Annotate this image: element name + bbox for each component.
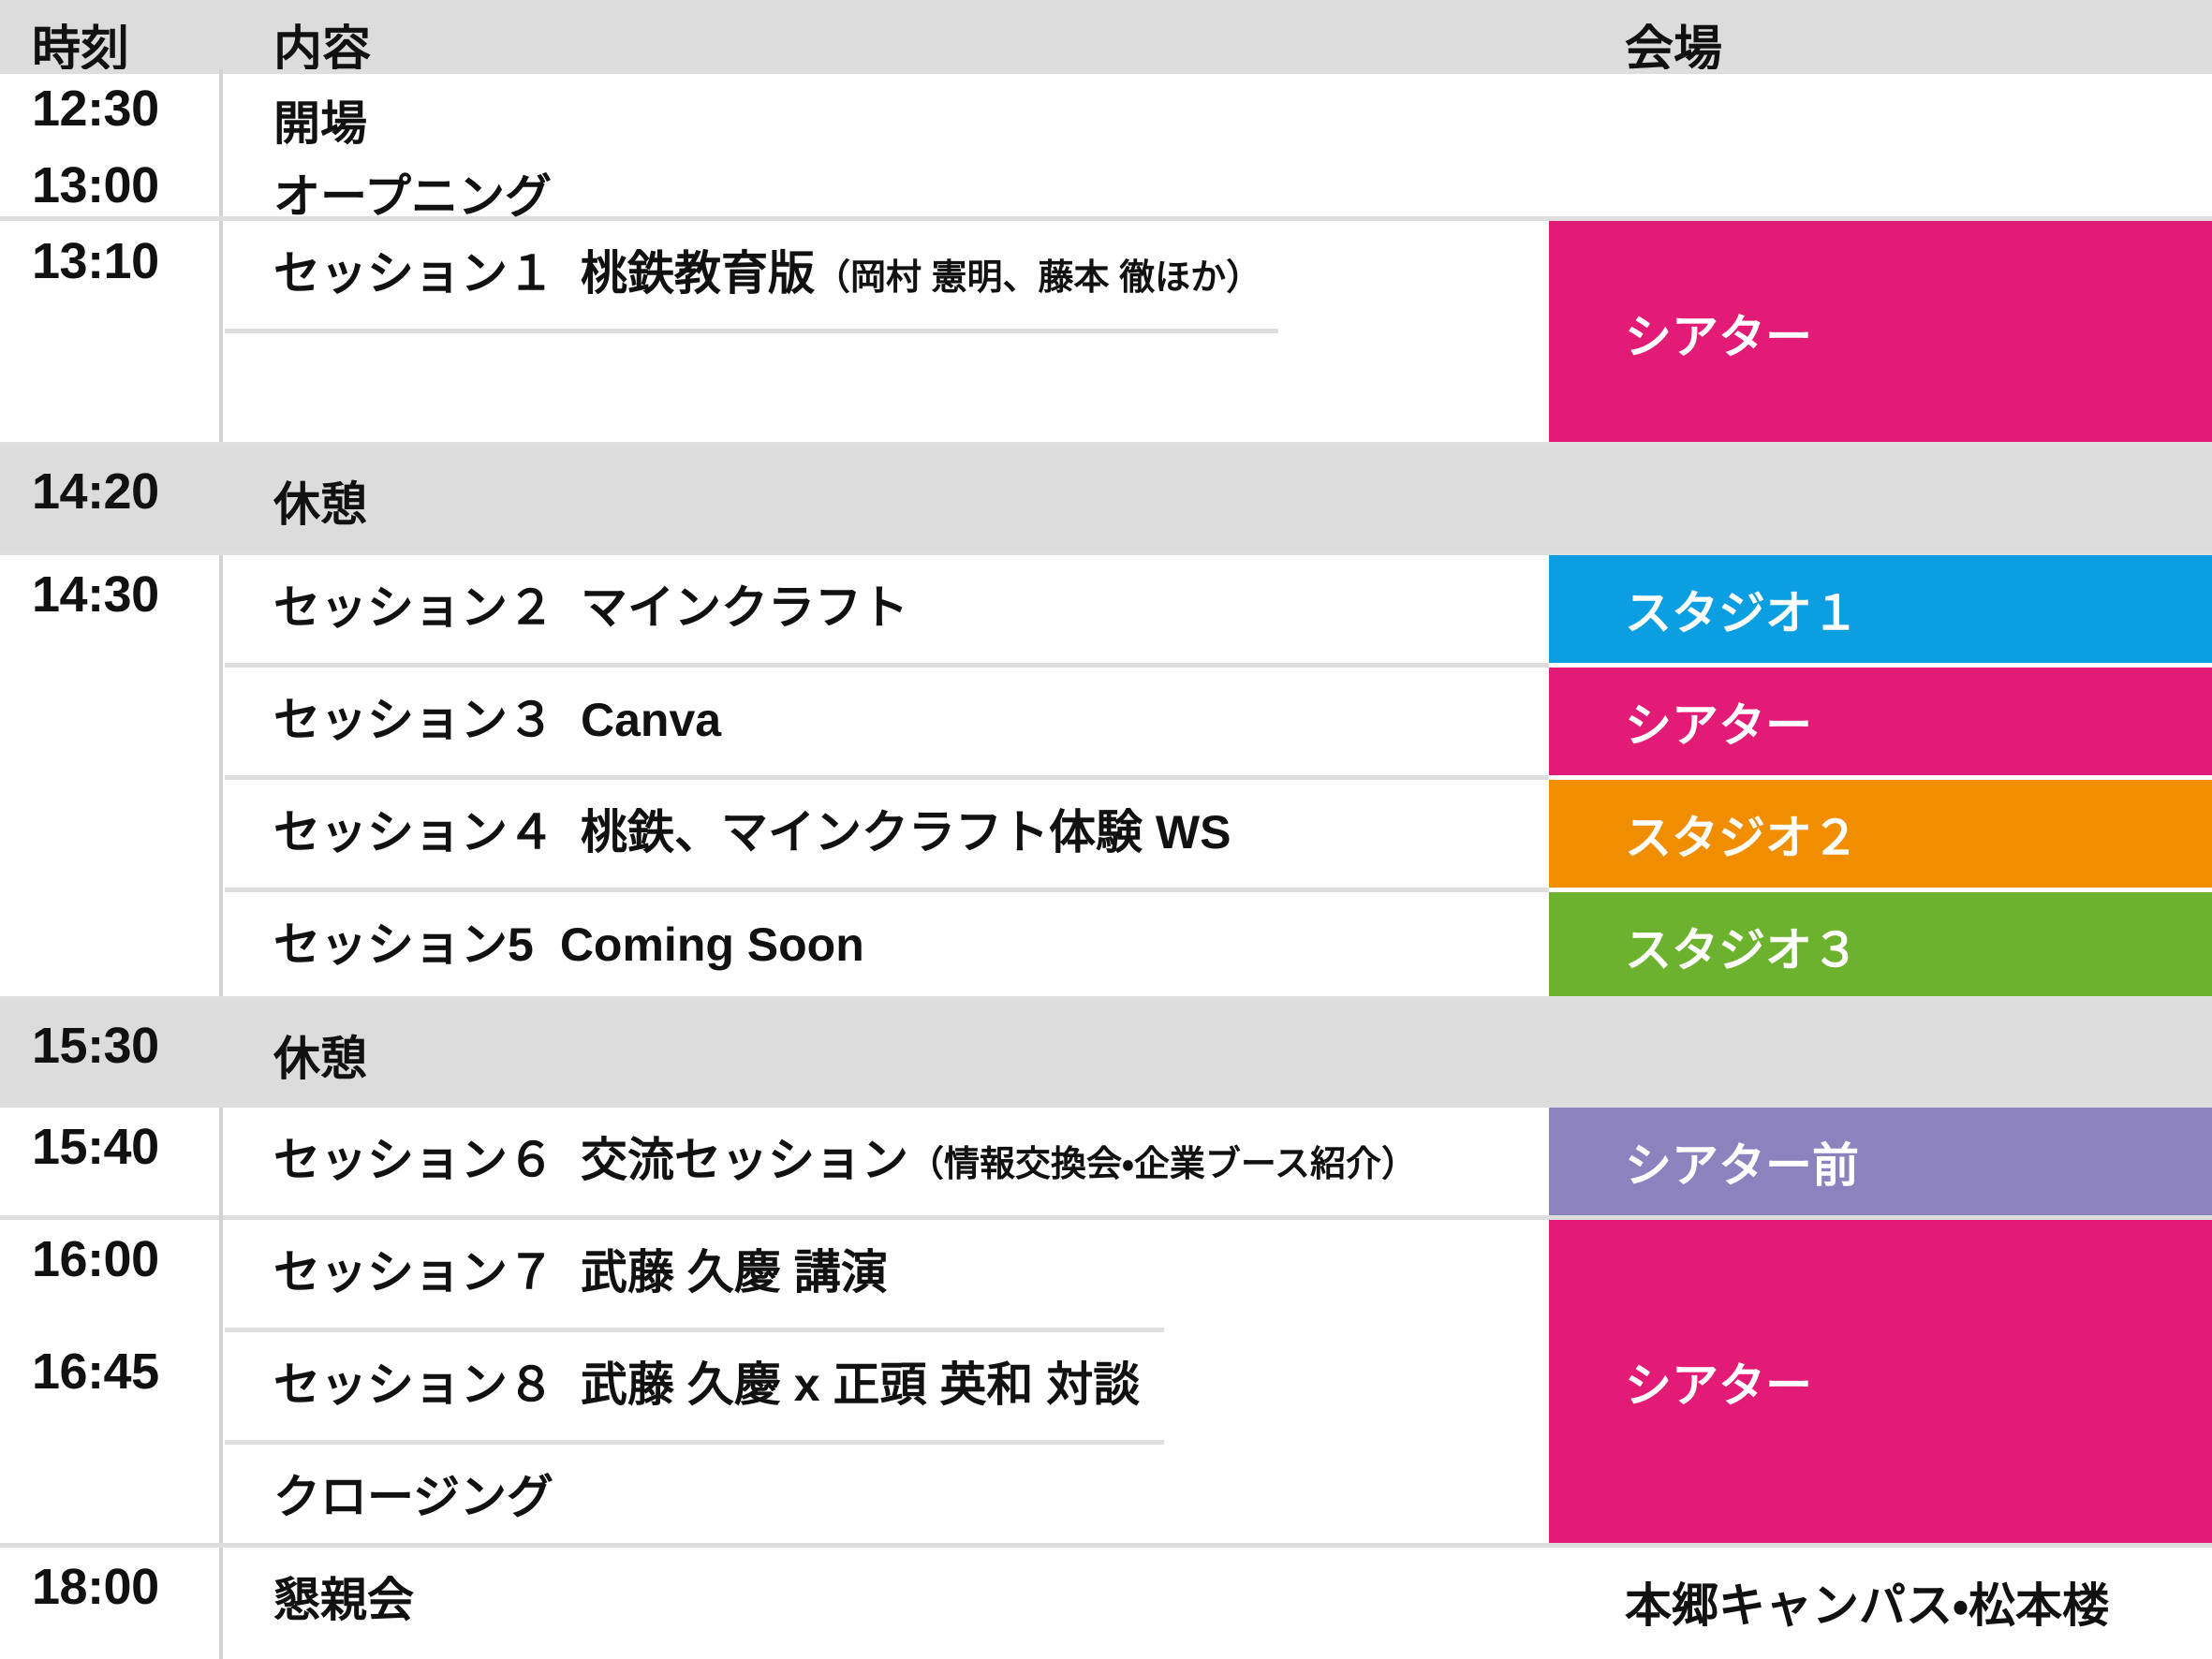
row-divider-short: [225, 663, 1549, 668]
row-time: 12:30: [32, 80, 210, 138]
row-venue: スタジオ２: [1549, 780, 2212, 888]
row-content: セッション７武藤 久慶 講演: [273, 1235, 888, 1302]
row-content: 休憩: [273, 467, 367, 535]
session-title: Canva: [581, 694, 721, 746]
row-divider-short: [225, 775, 1549, 780]
session-title: 武藤 久慶 x 正頭 英和 対談: [581, 1358, 1140, 1411]
row-venue: 本郷キャンパス・松本楼: [1549, 1548, 2212, 1655]
row-divider-short: [225, 1328, 1164, 1332]
row-content: セッション5Coming Soon: [273, 907, 864, 975]
row-content: セッション６交流セッション（情報交換会・企業ブース紹介）: [273, 1123, 1417, 1190]
row-content: セッション８武藤 久慶 x 正頭 英和 対談: [273, 1347, 1140, 1415]
row-content: クロージング: [273, 1460, 553, 1527]
session-speakers: （岡村 憲明、藤本 徹ほか）: [815, 258, 1261, 298]
venue-label: 本郷キャンパス・松本楼: [1625, 1568, 2109, 1636]
venue-label: シアター: [1625, 688, 1812, 756]
row-divider-short: [225, 1440, 1164, 1445]
schedule-table: 時刻 内容 会場 12:30 開場 13:00 オープニング シアター 13:1…: [0, 0, 2212, 1659]
row-content: オープニング: [273, 159, 552, 227]
row-content: 懇親会: [273, 1563, 414, 1630]
venue-label: スタジオ２: [1625, 800, 1859, 868]
row-content: セッション３Canva: [273, 683, 721, 750]
row-venue: スタジオ３: [1549, 892, 2212, 1000]
row-venue: シアター: [1549, 221, 2212, 446]
row-content: セッション１桃鉄教育版（岡村 憲明、藤本 徹ほか）: [273, 236, 1261, 303]
session-title: 桃鉄、マインクラフト体験 WS: [581, 806, 1231, 859]
venue-label: シアター: [1625, 1348, 1812, 1416]
row-time: 13:00: [32, 156, 210, 214]
row-time: 15:30: [32, 1017, 210, 1075]
session-label: セッション４: [273, 806, 554, 859]
session-label: セッション１: [273, 247, 554, 300]
row-divider-short: [225, 888, 1549, 892]
row-time: 16:45: [32, 1343, 210, 1401]
session-title: 交流セッション: [581, 1134, 908, 1186]
row-content: 開場: [273, 86, 367, 154]
row-time: 14:20: [32, 462, 210, 521]
time-column-divider: [219, 69, 223, 216]
session-detail: （情報交換会・企業ブース紹介）: [908, 1145, 1417, 1184]
venue-label: シアター前: [1625, 1128, 1859, 1196]
row-divider-short: [225, 329, 1278, 333]
row-content: セッション２マインクラフト: [273, 570, 908, 638]
venue-label: スタジオ１: [1625, 576, 1859, 643]
session-label: セッション２: [273, 581, 554, 634]
time-column-divider: [219, 1548, 223, 1659]
row-divider: [0, 69, 2212, 74]
session-label: セッション７: [273, 1246, 554, 1299]
session-title: マインクラフト: [581, 581, 908, 634]
venue-label: シアター: [1625, 300, 1812, 367]
row-time: 18:00: [32, 1558, 210, 1616]
venue-label: スタジオ３: [1625, 913, 1859, 980]
row-venue: スタジオ１: [1549, 555, 2212, 663]
row-content: セッション４桃鉄、マインクラフト体験 WS: [273, 795, 1231, 862]
row-venue: シアター前: [1549, 1108, 2212, 1215]
session-title: Coming Soon: [560, 918, 864, 971]
row-venue: シアター: [1549, 668, 2212, 775]
row-time: 13:10: [32, 232, 210, 290]
row-content: 休憩: [273, 1021, 367, 1089]
session-title: 武藤 久慶 講演: [581, 1246, 888, 1299]
row-time: 16:00: [32, 1230, 210, 1288]
session-title: 桃鉄教育版: [581, 247, 815, 300]
session-label: セッション5: [273, 918, 534, 971]
time-column-divider: [219, 221, 223, 442]
row-time: 14:30: [32, 565, 210, 624]
session-label: セッション３: [273, 694, 554, 746]
row-time: 15:40: [32, 1118, 210, 1176]
session-label: セッション８: [273, 1358, 554, 1411]
time-column-divider: [219, 1108, 223, 1543]
row-venue: シアター: [1549, 1220, 2212, 1543]
session-label: セッション６: [273, 1134, 554, 1186]
time-column-divider: [219, 555, 223, 996]
